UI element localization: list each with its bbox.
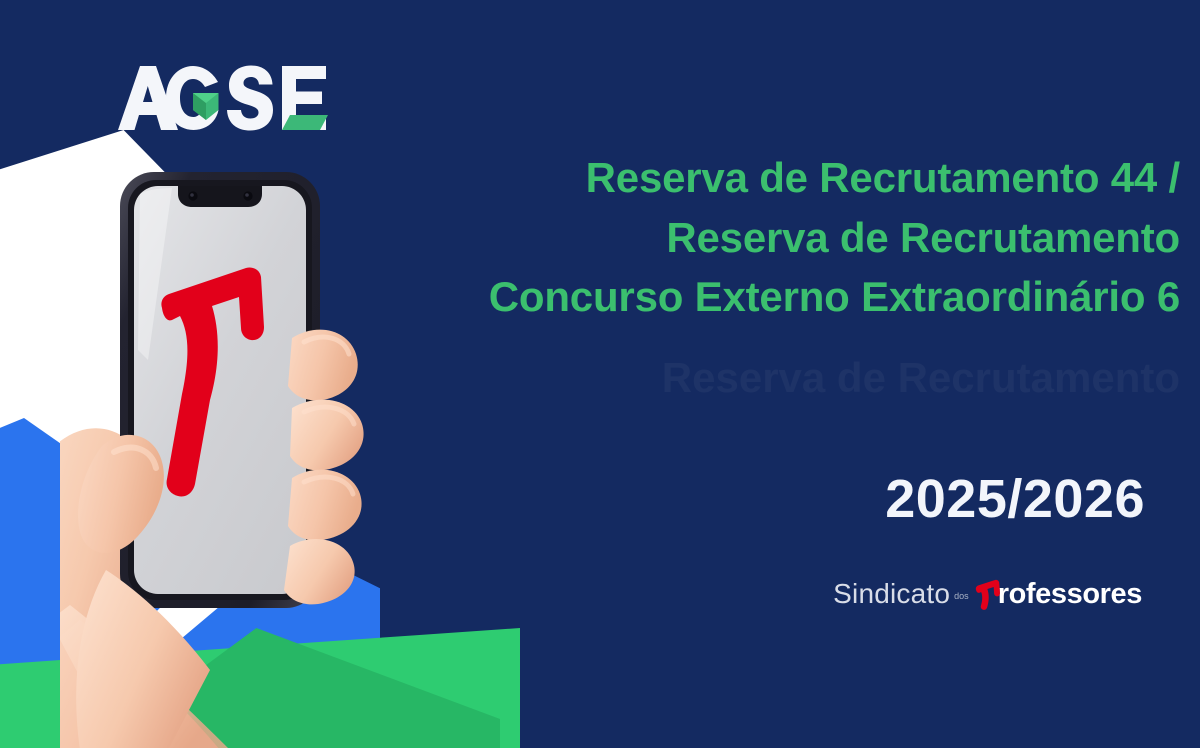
agse-logo [110,52,340,142]
banner: Reserva de Recrutamento Reserva de Recru… [0,0,1200,748]
school-year: 2025/2026 [885,468,1145,530]
sindicato-word: Sindicato [833,580,950,608]
red-seven-icon [973,578,1003,612]
professores-word: rofessores [998,580,1142,609]
sindicato-professores-logo: Sindicato dos rofessores [833,574,1142,614]
headline: Reserva de Recrutamento 44 / Reserva de … [390,148,1180,327]
dos-word: dos [954,592,969,601]
